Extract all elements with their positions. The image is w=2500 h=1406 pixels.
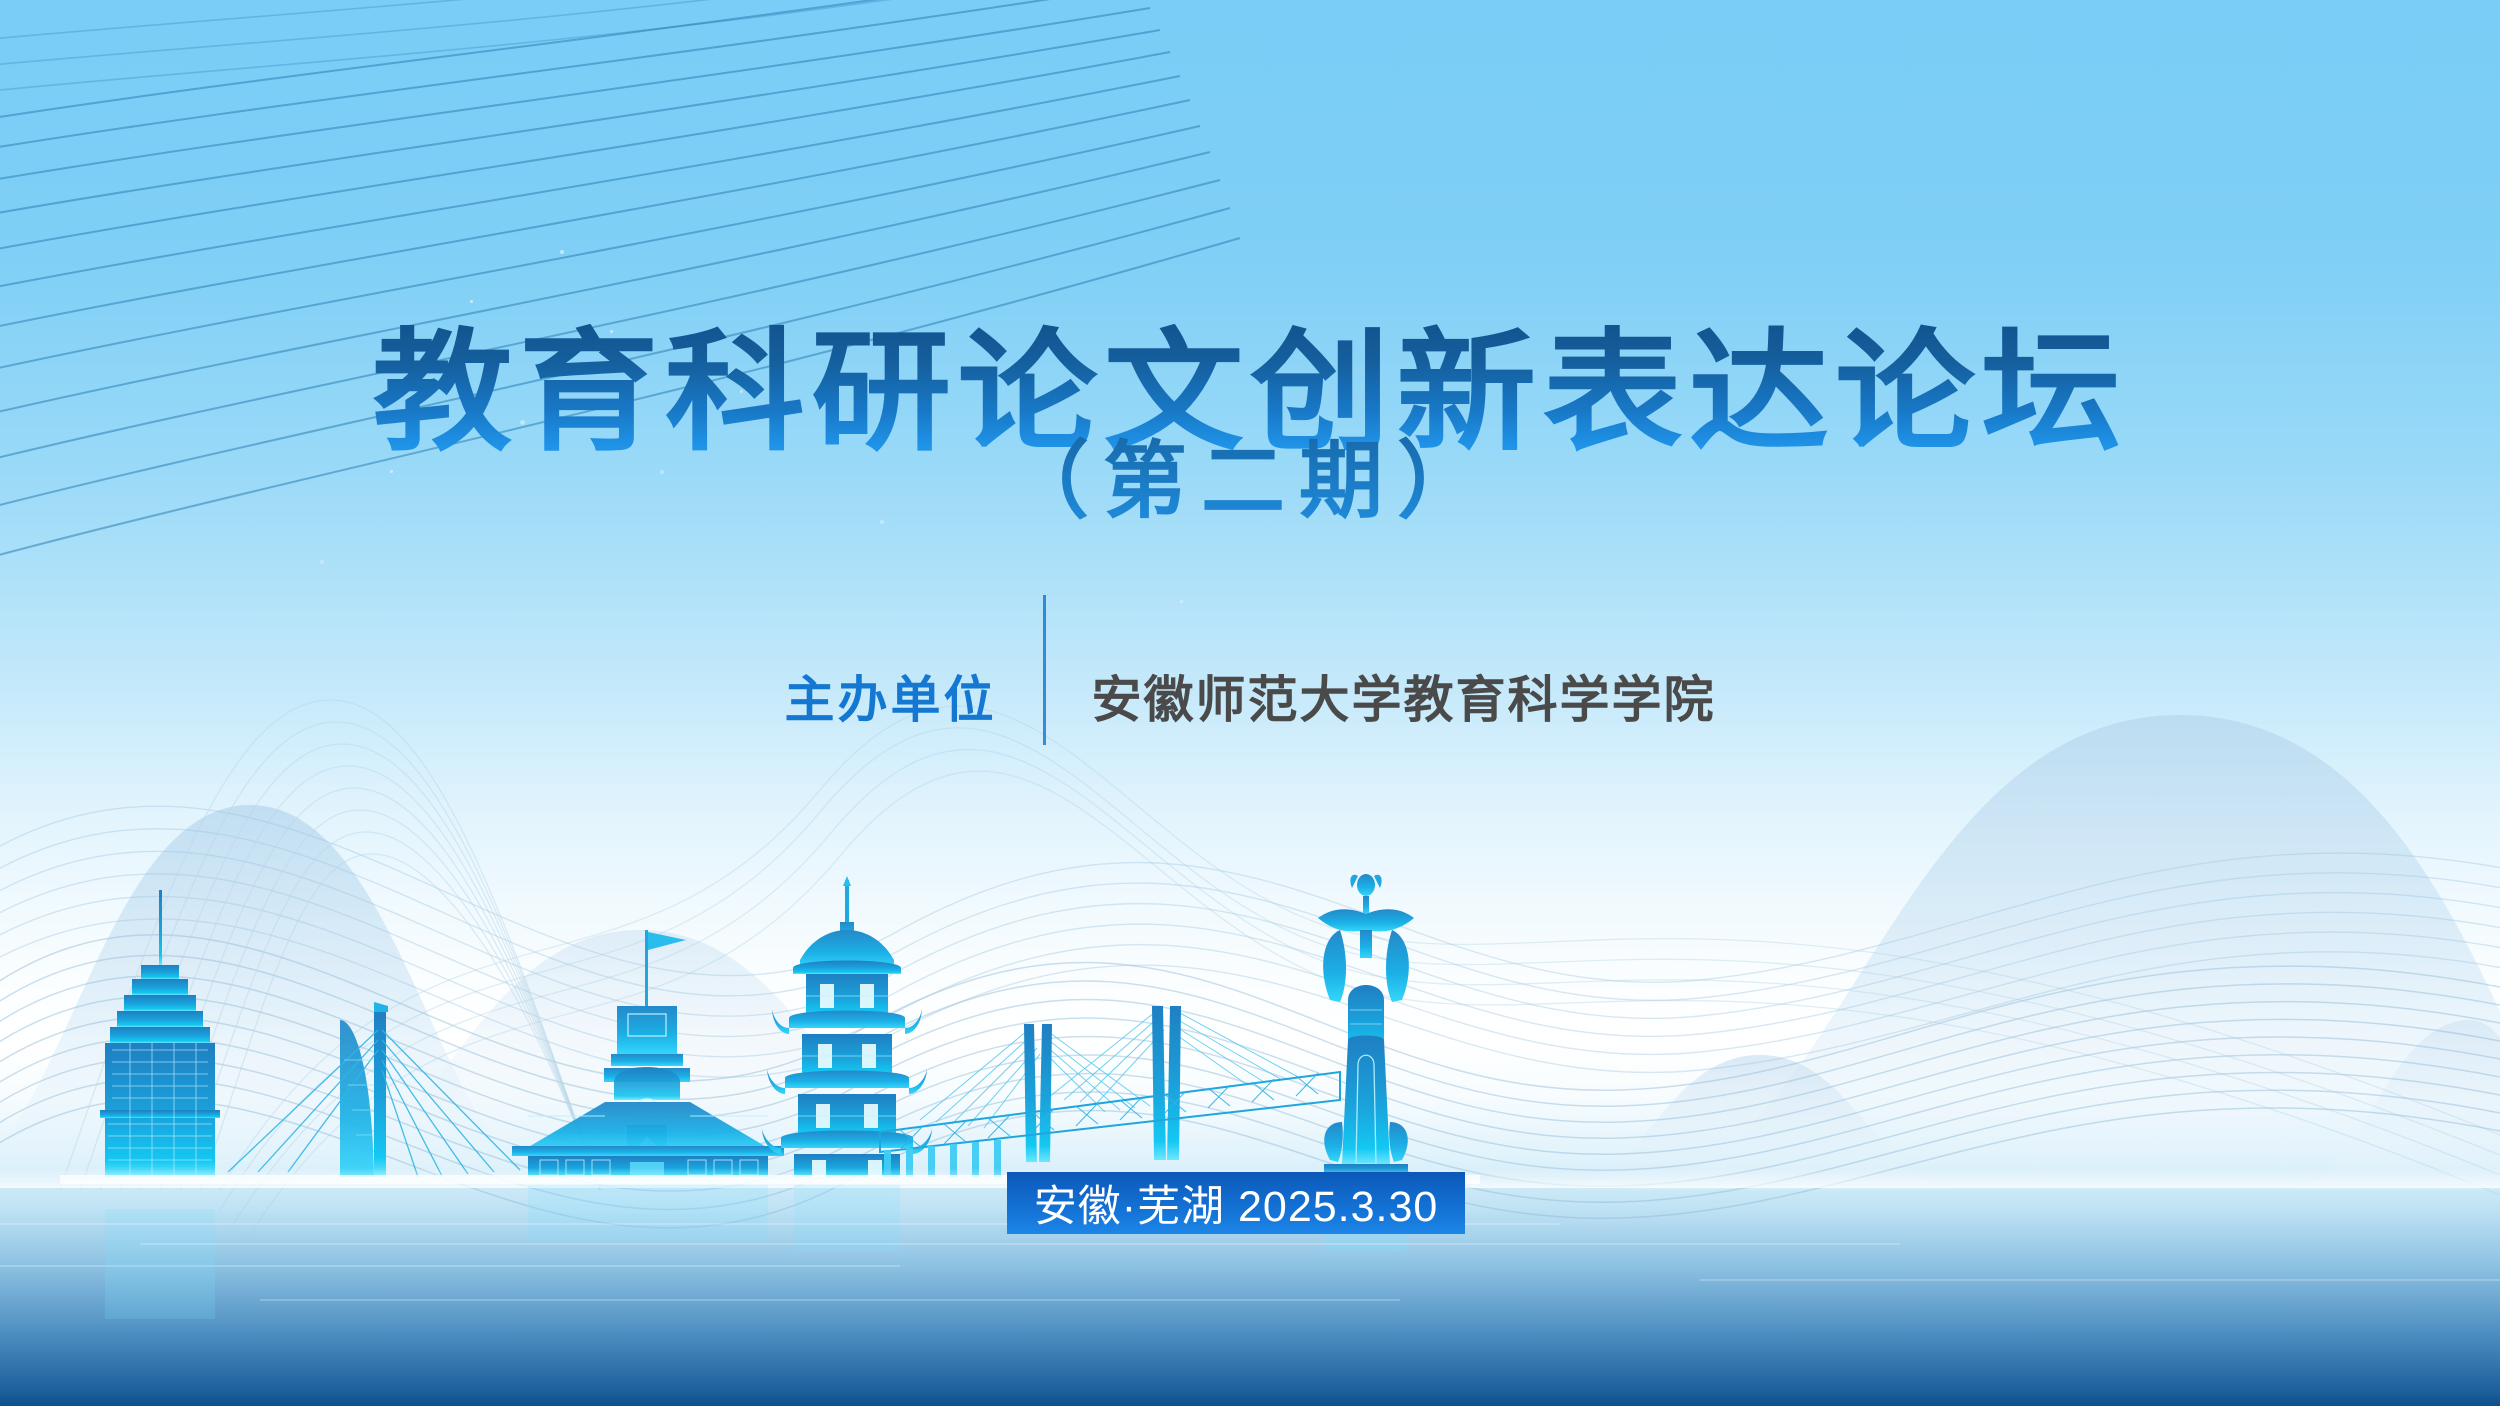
cable-stayed-bridge-pylon <box>228 1002 520 1177</box>
subtitle-container: （第二期） <box>0 414 2500 535</box>
subtitle: （第二期） <box>1005 414 1495 535</box>
location-date-badge: 安徽·芜湖 2025.3.30 <box>1007 1172 1465 1234</box>
clock-tower-building <box>512 930 784 1177</box>
huabiao-ornamental-column <box>1318 874 1414 1177</box>
host-organization-name: 安徽师范大学教育科学学院 <box>1092 675 1716 725</box>
truss-bridge <box>880 1006 1340 1177</box>
host-separator <box>1043 595 1046 745</box>
pagoda <box>762 876 932 1177</box>
poster-canvas: 教育科研论文创新表达论坛 （第二期） 主办单位 安徽师范大学教育科学学院 安徽·… <box>0 0 2500 1406</box>
host-label: 主办单位 <box>785 675 997 725</box>
host-row: 主办单位 安徽师范大学教育科学学院 <box>0 625 2500 775</box>
skyscraper-tower <box>100 890 220 1177</box>
